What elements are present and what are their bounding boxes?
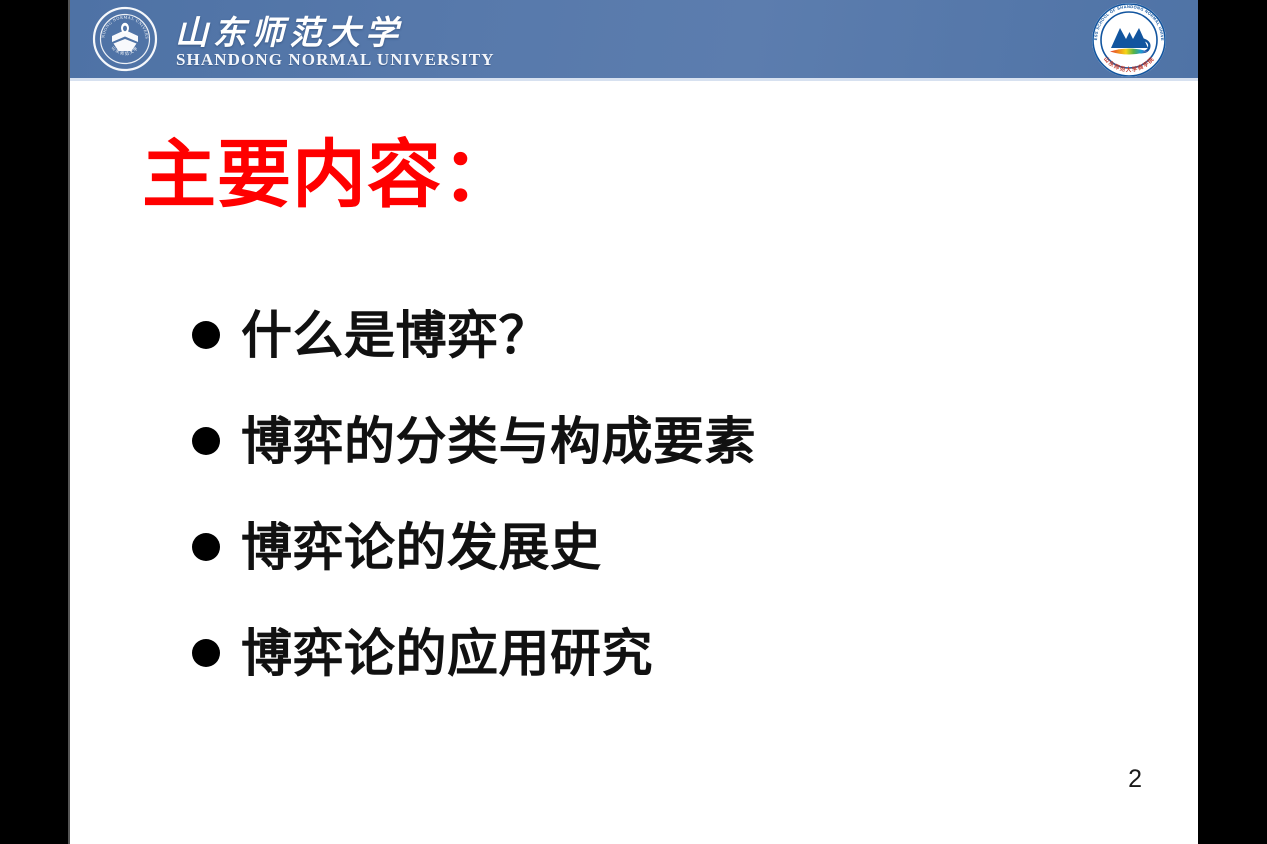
presentation-slide: SHANDONG NORMAL UNIVERSITY 山东师范大学 山东师范大学 [70, 0, 1198, 844]
university-name-cn-wordmark: 山东师范大学 [175, 8, 425, 50]
bullet-dot-icon [192, 639, 220, 667]
shandong-normal-university-seal-icon: SHANDONG NORMAL UNIVERSITY 山东师范大学 [92, 6, 158, 72]
business-school-emblem-icon: BUSINESS SCHOOL OF SHANDONG NORMAL UNIVE… [1091, 2, 1167, 78]
header-underline [70, 78, 1198, 81]
page-number: 2 [1128, 765, 1142, 794]
slide-header-band: SHANDONG NORMAL UNIVERSITY 山东师范大学 山东师范大学 [70, 0, 1198, 78]
list-item: 什么是博弈？ [192, 282, 1152, 388]
bullet-list: 什么是博弈？ 博弈的分类与构成要素 博弈论的发展史 博弈论的应用研究 [192, 282, 1152, 706]
university-name-en-text: SHANDONG NORMAL UNIVERSITY [176, 50, 495, 70]
slide-stage: SHANDONG NORMAL UNIVERSITY 山东师范大学 山东师范大学 [0, 0, 1267, 844]
university-name-cn-text: 山东师范大学 [175, 6, 425, 54]
list-item-label: 博弈论的发展史 [241, 522, 602, 573]
list-item-label: 什么是博弈？ [241, 310, 550, 361]
list-item-label: 博弈的分类与构成要素 [241, 416, 756, 467]
list-item: 博弈论的应用研究 [192, 600, 1152, 706]
bullet-dot-icon [192, 533, 220, 561]
list-item: 博弈论的发展史 [192, 494, 1152, 600]
bullet-dot-icon [192, 427, 220, 455]
bullet-dot-icon [192, 321, 220, 349]
list-item: 博弈的分类与构成要素 [192, 388, 1152, 494]
list-item-label: 博弈论的应用研究 [241, 628, 653, 679]
page-title: 主要内容： [142, 136, 517, 214]
